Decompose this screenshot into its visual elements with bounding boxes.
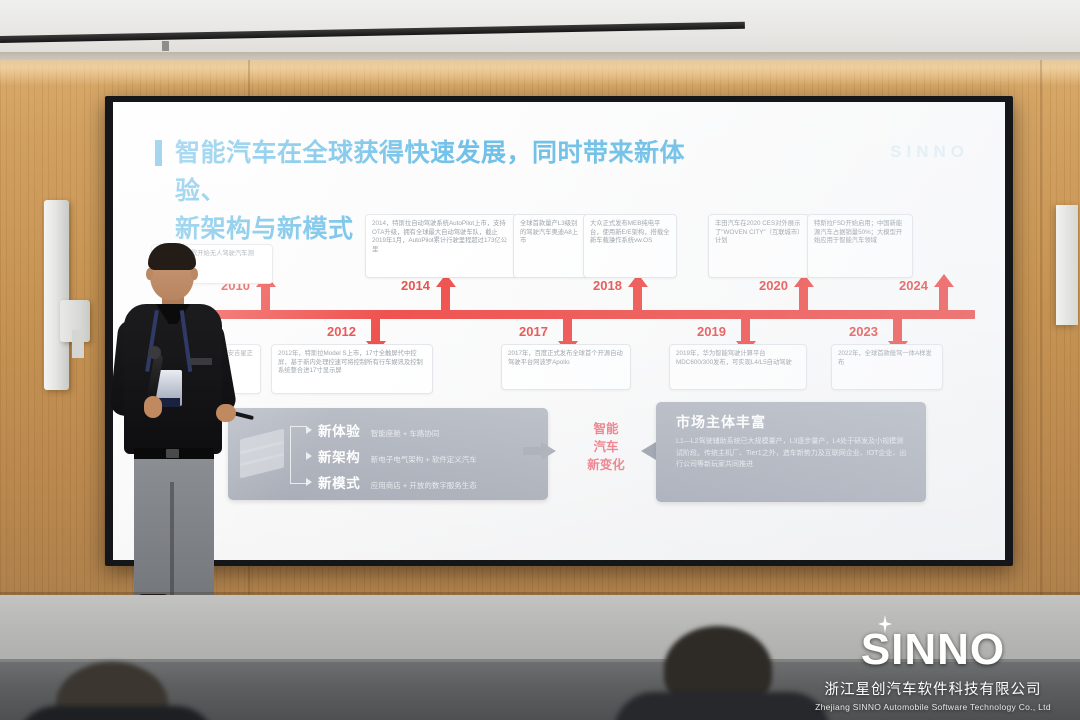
paradigm-title-3: 新模式 <box>318 476 360 491</box>
timeline-stem-2018 <box>633 284 642 312</box>
title-accent-bar <box>155 140 162 166</box>
timeline-stem-2017 <box>563 317 572 343</box>
audience-shoulders-1 <box>16 706 216 720</box>
wall-speaker-left <box>44 200 69 390</box>
timeline-year-2014: 2014 <box>401 278 430 293</box>
ceiling-shadow <box>0 52 1080 68</box>
timeline-arrow-2024 <box>934 274 954 287</box>
screenshot-root: 智能汽车在全球获得快速发展，同时带来新体验、 新架构与新模式 SINNO 201… <box>0 0 1080 720</box>
timeline-year-2018: 2018 <box>593 278 622 293</box>
event-box-2023: 2022年，全球首款舱驾一体A样发布 <box>831 344 943 390</box>
paradigm-desc-3: 应用商店 + 开放的数字服务生态 <box>371 481 477 490</box>
center-label-line2: 汽车 <box>576 438 636 456</box>
market-panel: 市场主体丰富 L1—L2驾驶辅助系统已大规模量产，L3逐步量产，L4处于研发及小… <box>656 402 926 502</box>
arrow-left-head <box>641 442 656 460</box>
paradigm-row-3: 新模式 应用商店 + 开放的数字服务生态 <box>318 472 477 493</box>
presenter-legs <box>134 454 214 598</box>
projection-screen: 智能汽车在全球获得快速发展，同时带来新体验、 新架构与新模式 SINNO 201… <box>113 102 1005 560</box>
presenter-hair <box>148 243 196 270</box>
presenter-hand-right <box>216 404 236 422</box>
presenter <box>120 246 240 626</box>
wall-speaker-bracket-stem <box>72 330 84 358</box>
audience-shoulders-2 <box>614 692 830 720</box>
presenter-ear-left <box>146 268 153 280</box>
layers-icon <box>240 432 286 476</box>
timeline-stem-2023 <box>893 317 902 343</box>
market-panel-title: 市场主体丰富 <box>676 412 766 432</box>
brace-connector <box>290 426 307 484</box>
watermark-company-en: Zhejiang SINNO Automobile Software Techn… <box>804 702 1062 712</box>
paradigm-title-1: 新体验 <box>318 424 360 439</box>
timeline-stem-2024 <box>939 284 948 312</box>
brace-arrow-1 <box>306 426 312 434</box>
track-clip <box>162 41 169 51</box>
wall-speaker-right <box>1056 205 1078 325</box>
arrow-right-head <box>541 442 556 460</box>
paradigm-desc-1: 智能座舱 + 车路协同 <box>371 429 440 438</box>
watermark-logo-text: SINNO <box>861 625 1005 674</box>
event-box-2017: 2017年，百度正式发布全球首个开源自动驾驶平台阿波罗Apollo <box>501 344 631 390</box>
center-label-line1: 智能 <box>576 420 636 438</box>
microphone-head <box>148 346 161 359</box>
event-box-2020: 丰田汽车在2020 CES对外展示了"WOVEN CITY"（互联城市）计划 <box>708 214 810 278</box>
event-box-2016: 全球首款量产L3级别的驾驶汽车奥迪A8上市 <box>513 214 589 278</box>
timeline-axis <box>185 310 975 319</box>
timeline-year-2024: 2024 <box>899 278 928 293</box>
center-label-line3: 新变化 <box>576 456 636 474</box>
watermark-company-cn: 浙江星创汽车软件科技有限公司 <box>804 678 1062 699</box>
presenter-leg-split <box>170 482 174 598</box>
timeline-year-2012: 2012 <box>327 324 356 339</box>
paradigm-desc-2: 新电子电气架构 + 软件定义汽车 <box>371 455 477 464</box>
event-box-2024: 特斯拉FSD开始启用；中国新能源汽车占据销量50%；大模型开始应用于智能汽车领域 <box>807 214 913 278</box>
timeline-year-2020: 2020 <box>759 278 788 293</box>
center-label: 智能 汽车 新变化 <box>576 420 636 474</box>
event-box-2012: 2012年，特斯拉Model S上市，17寸全触屏代中控屏，基于新内处理控速可将… <box>271 344 433 394</box>
brace-arrow-3 <box>306 478 312 486</box>
paradigm-row-2: 新架构 新电子电气架构 + 软件定义汽车 <box>318 446 477 467</box>
new-paradigm-panel: 新体验 智能座舱 + 车路协同 新架构 新电子电气架构 + 软件定义汽车 新模式… <box>228 408 548 500</box>
market-panel-body: L1—L2驾驶辅助系统已大规模量产，L3逐步量产，L4处于研发及小规模测试阶段。… <box>676 436 910 471</box>
presenter-hand-left <box>144 396 162 418</box>
timeline-stem-2020 <box>799 284 808 312</box>
watermark: SINNO 浙江星创汽车软件科技有限公司 Zhejiang SINNO Auto… <box>804 624 1062 712</box>
presenter-shirt-logo <box>190 358 212 365</box>
watermark-logo: SINNO <box>804 624 1062 676</box>
arrow-right-bar <box>523 447 543 455</box>
timeline-year-2019: 2019 <box>697 324 726 339</box>
timeline-stem-2012 <box>371 317 380 343</box>
timeline-stem-2019 <box>741 317 750 343</box>
event-box-2014: 2014，特斯拉自动驾驶系统AutoPilot上市，支持OTA升级，拥有全球最大… <box>365 214 517 278</box>
timeline-stem-2010 <box>261 284 270 312</box>
presenter-ear-right <box>191 268 198 280</box>
event-box-2018: 大众正式发布MEB纯电平台，使用新E/E架构，搭载全新车载操作系统vw.OS <box>583 214 677 278</box>
paradigm-row-1: 新体验 智能座舱 + 车路协同 <box>318 420 439 441</box>
timeline-year-2023: 2023 <box>849 324 878 339</box>
paradigm-title-2: 新架构 <box>318 450 360 465</box>
presenter-belt-buckle <box>166 449 179 458</box>
timeline-year-2017: 2017 <box>519 324 548 339</box>
event-box-2019: 2019年，华为智能驾驶计算平台MDC600/300发布，可实现L4/L5自动驾… <box>669 344 807 390</box>
slide-title-line1: 智能汽车在全球获得快速发展，同时带来新体验、 <box>175 134 735 210</box>
brace-arrow-2 <box>306 452 312 460</box>
slide-brand-logo: SINNO <box>890 142 969 162</box>
wall-seam <box>1040 60 1042 620</box>
timeline-stem-2014 <box>441 284 450 312</box>
presentation-slide: 智能汽车在全球获得快速发展，同时带来新体验、 新架构与新模式 SINNO 201… <box>113 102 1005 560</box>
